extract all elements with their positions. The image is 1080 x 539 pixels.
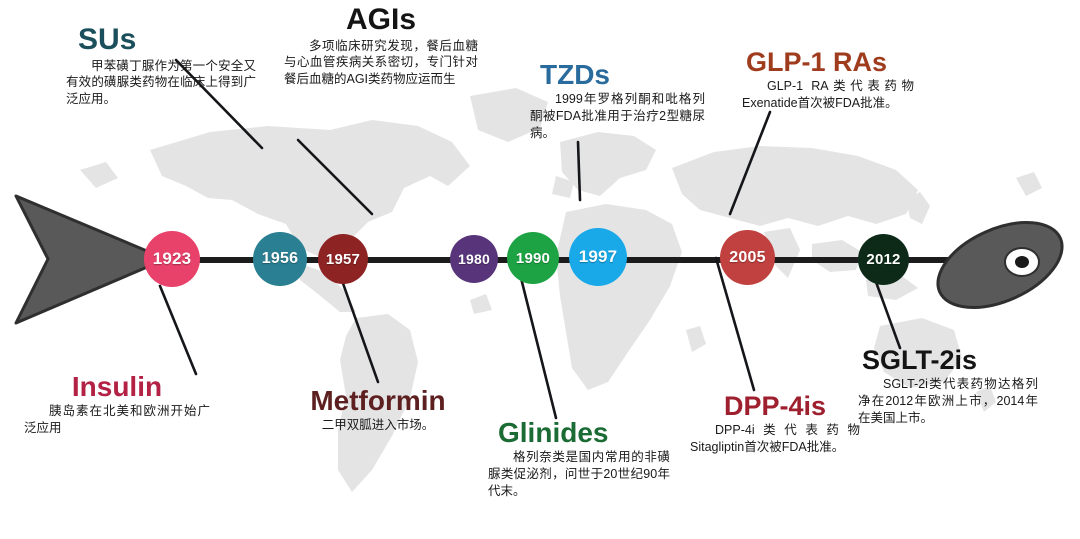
entry-description-dpp4is: DPP-4i类代表药物Sitagliptin首次被FDA批准。 — [690, 422, 860, 456]
entry-description-tzds: 1999年罗格列酮和吡格列酮被FDA批准用于治疗2型糖尿病。 — [530, 91, 705, 142]
timeline-entry-tzds: TZDs1999年罗格列酮和吡格列酮被FDA批准用于治疗2型糖尿病。 — [530, 60, 705, 142]
timeline-node-1923[interactable]: 1923 — [144, 231, 200, 287]
entry-title-tzds: TZDs — [530, 60, 705, 89]
timeline-entry-insulin: Insulin胰岛素在北美和欧洲开始广泛应用 — [24, 372, 210, 437]
entry-description-insulin: 胰岛素在北美和欧洲开始广泛应用 — [24, 403, 210, 437]
entry-title-sus: SUs — [66, 24, 256, 56]
entry-title-sglt2is: SGLT-2is — [858, 346, 1038, 374]
timeline-entry-glinides: Glinides格列奈类是国内常用的非磺脲类促泌剂，问世于20世纪90年代末。 — [488, 418, 670, 500]
entry-title-glp1ras: GLP-1 RAs — [742, 48, 914, 76]
timeline-node-year-label: 1997 — [579, 247, 618, 267]
fish-eye-icon — [1005, 248, 1039, 276]
entry-description-sglt2is: SGLT-2i类代表药物达格列净在2012年欧洲上市，2014年在美国上市。 — [858, 376, 1038, 427]
entry-title-dpp4is: DPP-4is — [690, 392, 860, 420]
timeline-entry-agis: AGIs多项临床研究发现，餐后血糖与心血管疾病关系密切，专门针对餐后血糖的AGI… — [284, 4, 478, 88]
timeline-node-year-label: 2012 — [866, 251, 900, 268]
timeline-entry-sus: SUs甲苯磺丁脲作为第一个安全又有效的磺脲类药物在临床上得到广泛应用。 — [66, 24, 256, 108]
timeline-node-1957[interactable]: 1957 — [318, 234, 368, 284]
connector-line-insulin-line — [160, 286, 196, 374]
timeline-infographic: 19231956195719801990199720052012 SUs甲苯磺丁… — [0, 0, 1080, 539]
timeline-node-year-label: 1923 — [153, 249, 192, 269]
timeline-node-1956[interactable]: 1956 — [253, 232, 307, 286]
entry-description-sus: 甲苯磺丁脲作为第一个安全又有效的磺脲类药物在临床上得到广泛应用。 — [66, 58, 256, 109]
timeline-node-1990[interactable]: 1990 — [507, 232, 559, 284]
timeline-entry-metformin: Metformin二甲双胍进入市场。 — [278, 386, 478, 434]
timeline-node-1997[interactable]: 1997 — [569, 228, 627, 286]
entry-description-metformin: 二甲双胍进入市场。 — [278, 417, 478, 434]
entry-description-glinides: 格列奈类是国内常用的非磺脲类促泌剂，问世于20世纪90年代末。 — [488, 449, 670, 500]
timeline-entry-sglt2is: SGLT-2isSGLT-2i类代表药物达格列净在2012年欧洲上市，2014年… — [858, 346, 1038, 427]
connector-line-agis-line — [298, 140, 372, 214]
entry-description-glp1ras: GLP-1 RA类代表药物Exenatide首次被FDA批准。 — [742, 78, 914, 112]
connector-line-tzds-line — [578, 142, 580, 200]
timeline-node-2012[interactable]: 2012 — [858, 234, 909, 285]
entry-title-agis: AGIs — [284, 4, 478, 36]
timeline-entry-glp1ras: GLP-1 RAsGLP-1 RA类代表药物Exenatide首次被FDA批准。 — [742, 48, 914, 112]
timeline-node-year-label: 1957 — [326, 251, 360, 268]
connector-line-glp1-line — [730, 112, 770, 214]
timeline-entry-dpp4is: DPP-4isDPP-4i类代表药物Sitagliptin首次被FDA批准。 — [690, 392, 860, 456]
entry-title-glinides: Glinides — [488, 418, 670, 447]
timeline-node-2005[interactable]: 2005 — [720, 230, 775, 285]
fish-head-shape — [925, 205, 1075, 324]
timeline-node-year-label: 1990 — [516, 250, 550, 267]
timeline-node-year-label: 1956 — [262, 250, 298, 268]
entry-title-insulin: Insulin — [24, 372, 210, 401]
entry-title-metformin: Metformin — [278, 386, 478, 415]
timeline-node-year-label: 1980 — [458, 251, 490, 267]
entry-description-agis: 多项临床研究发现，餐后血糖与心血管疾病关系密切，专门针对餐后血糖的AGI类药物应… — [284, 38, 478, 89]
timeline-node-year-label: 2005 — [729, 249, 765, 267]
timeline-node-1980[interactable]: 1980 — [450, 235, 498, 283]
